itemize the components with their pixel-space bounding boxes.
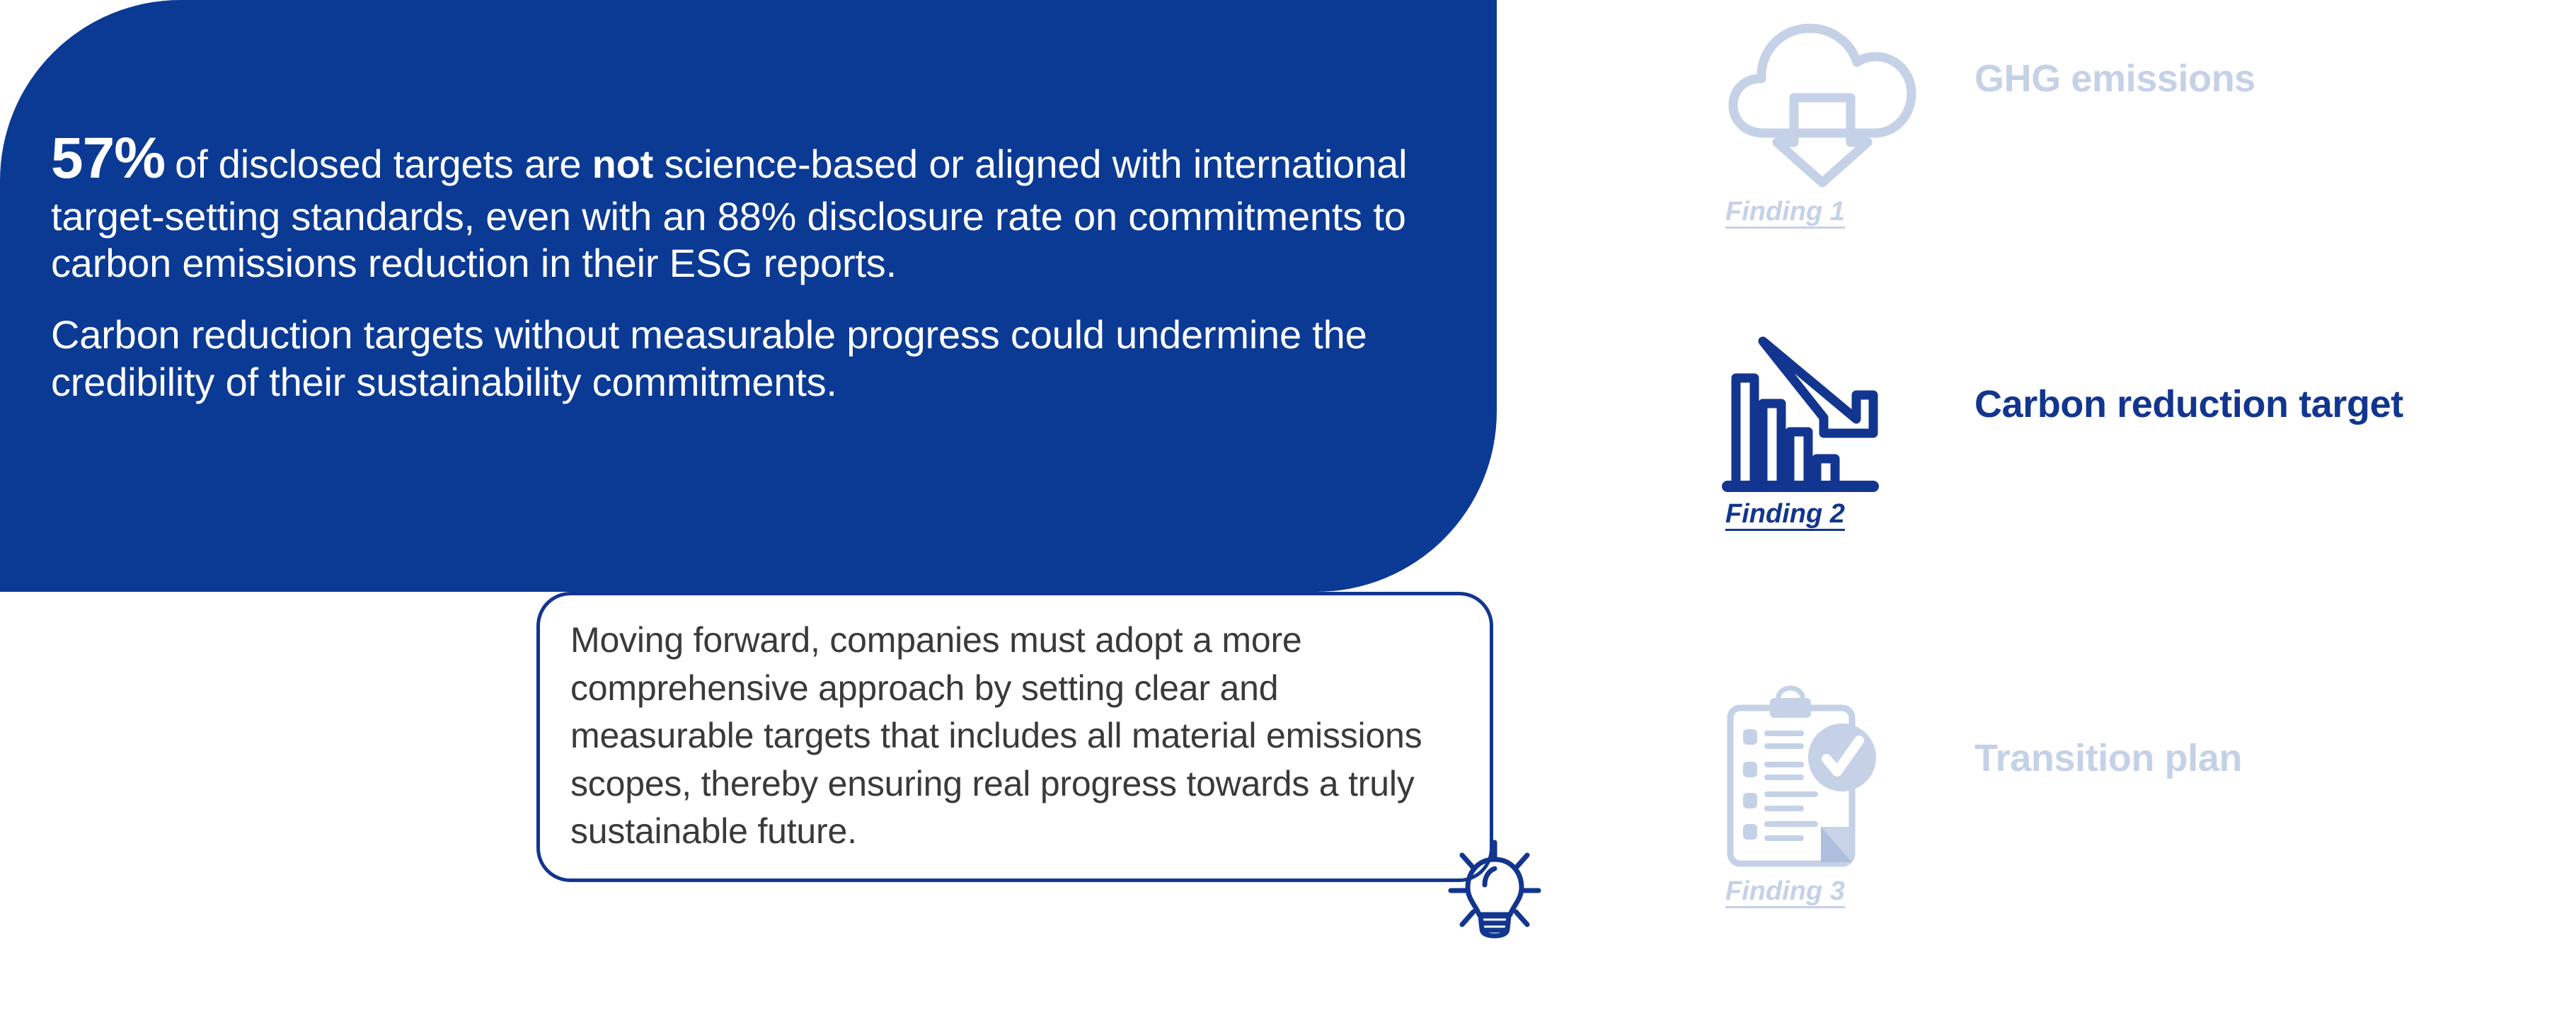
cloud-download-icon xyxy=(1723,13,1921,190)
finding-label: Carbon reduction target xyxy=(1974,382,2403,426)
headline-pre-text: of disclosed targets are xyxy=(175,142,592,186)
recommendation-callout: Moving forward, companies must adopt a m… xyxy=(536,592,1493,882)
highlight-percentage: 57% xyxy=(51,126,175,190)
clipboard-check-icon xyxy=(1723,685,1921,869)
findings-list: GHG emissions Finding 1 Carbon reduction xyxy=(1684,0,2576,1030)
lightbulb-icon xyxy=(1445,841,1544,947)
callout-text: Moving forward, companies must adopt a m… xyxy=(570,617,1448,856)
finding-label: Transition plan xyxy=(1974,736,2242,780)
statistic-panel-content: 57%of disclosed targets are not science-… xyxy=(51,125,1417,406)
finding-tag[interactable]: Finding 1 xyxy=(1725,197,1845,227)
statistic-panel: 57%of disclosed targets are not science-… xyxy=(0,0,1497,592)
headline-statistic: 57%of disclosed targets are not science-… xyxy=(51,125,1417,287)
finding-tag[interactable]: Finding 3 xyxy=(1725,876,1845,907)
declining-bar-chart-icon xyxy=(1723,331,1921,508)
secondary-paragraph: Carbon reduction targets without measura… xyxy=(51,311,1417,406)
finding-item-ghg-emissions[interactable]: GHG emissions Finding 1 xyxy=(1684,0,2576,297)
finding-item-carbon-reduction-target[interactable]: Carbon reduction target Finding 2 xyxy=(1684,311,2576,609)
headline-bold-word: not xyxy=(592,142,653,186)
finding-tag[interactable]: Finding 2 xyxy=(1725,499,1845,530)
finding-label: GHG emissions xyxy=(1974,57,2255,101)
finding-item-transition-plan[interactable]: Transition plan Finding 3 xyxy=(1684,673,2576,970)
